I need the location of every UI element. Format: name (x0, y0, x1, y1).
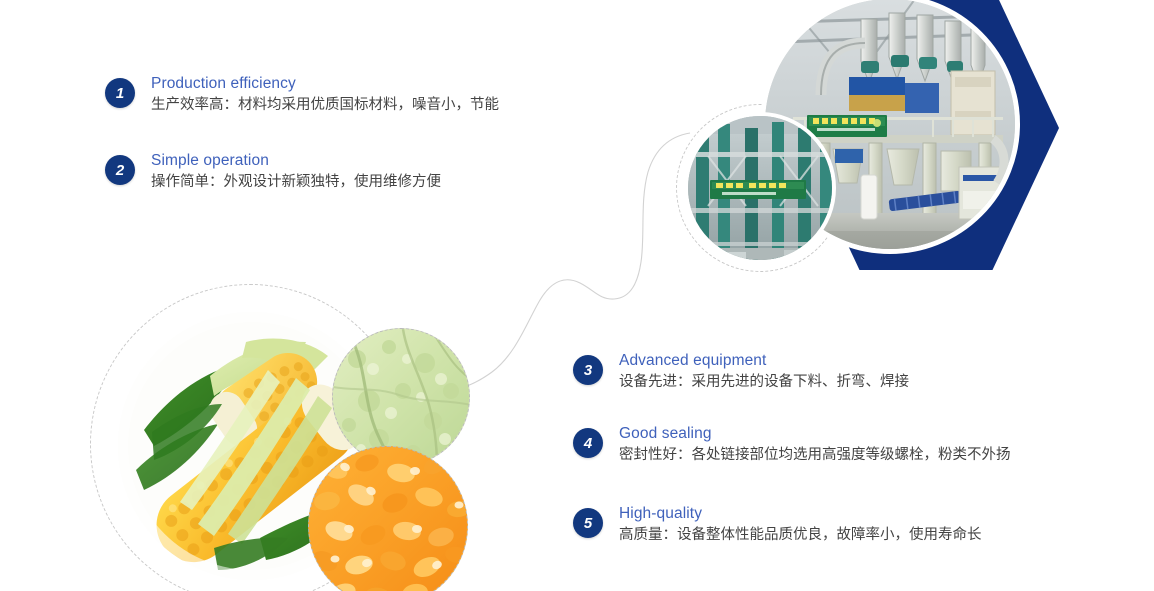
feature-description: 高质量：设备整体性能品质优良，故障率小，使用寿命长 (619, 524, 982, 546)
milling-equipment-small-photo (684, 112, 836, 264)
corn-grits-photo (308, 446, 468, 591)
feature-title: Good sealing (619, 424, 1011, 443)
feature-text-block: Simple operation 操作简单：外观设计新颖独特，使用维修方便 (151, 151, 441, 193)
feature-text-block: Production efficiency 生产效率高：材料均采用优质国标材料，… (151, 74, 499, 116)
feature-number-badge: 3 (573, 355, 603, 385)
feature-description: 操作简单：外观设计新颖独特，使用维修方便 (151, 171, 441, 193)
feature-showcase-canvas: 1 Production efficiency 生产效率高：材料均采用优质国标材… (0, 0, 1154, 591)
feature-title: Advanced equipment (619, 351, 909, 370)
feature-description: 密封性好：各处链接部位均选用高强度等级螺栓，粉类不外扬 (619, 444, 1011, 466)
feature-number-badge: 5 (573, 508, 603, 538)
feature-number-badge: 4 (573, 428, 603, 458)
feature-item-3[interactable]: 3 Advanced equipment 设备先进：采用先进的设备下料、折弯、焊… (573, 355, 909, 393)
hexagon-photo-cluster (793, 0, 1059, 270)
feature-item-1[interactable]: 1 Production efficiency 生产效率高：材料均采用优质国标材… (105, 78, 499, 116)
feature-description: 生产效率高：材料均采用优质国标材料，噪音小，节能 (151, 94, 499, 116)
feature-title: Simple operation (151, 151, 441, 170)
feature-description: 设备先进：采用先进的设备下料、折弯、焊接 (619, 371, 909, 393)
feature-number-badge: 1 (105, 78, 135, 108)
feature-item-4[interactable]: 4 Good sealing 密封性好：各处链接部位均选用高强度等级螺栓，粉类不… (573, 428, 1011, 466)
feature-title: High-quality (619, 504, 982, 523)
feature-item-5[interactable]: 5 High-quality 高质量：设备整体性能品质优良，故障率小，使用寿命长 (573, 508, 982, 546)
feature-text-block: High-quality 高质量：设备整体性能品质优良，故障率小，使用寿命长 (619, 504, 982, 546)
feature-title: Production efficiency (151, 74, 499, 93)
feature-text-block: Advanced equipment 设备先进：采用先进的设备下料、折弯、焊接 (619, 351, 909, 393)
feature-number-badge: 2 (105, 155, 135, 185)
corn-paste-photo (332, 328, 470, 466)
feature-item-2[interactable]: 2 Simple operation 操作简单：外观设计新颖独特，使用维修方便 (105, 155, 441, 193)
feature-text-block: Good sealing 密封性好：各处链接部位均选用高强度等级螺栓，粉类不外扬 (619, 424, 1011, 466)
